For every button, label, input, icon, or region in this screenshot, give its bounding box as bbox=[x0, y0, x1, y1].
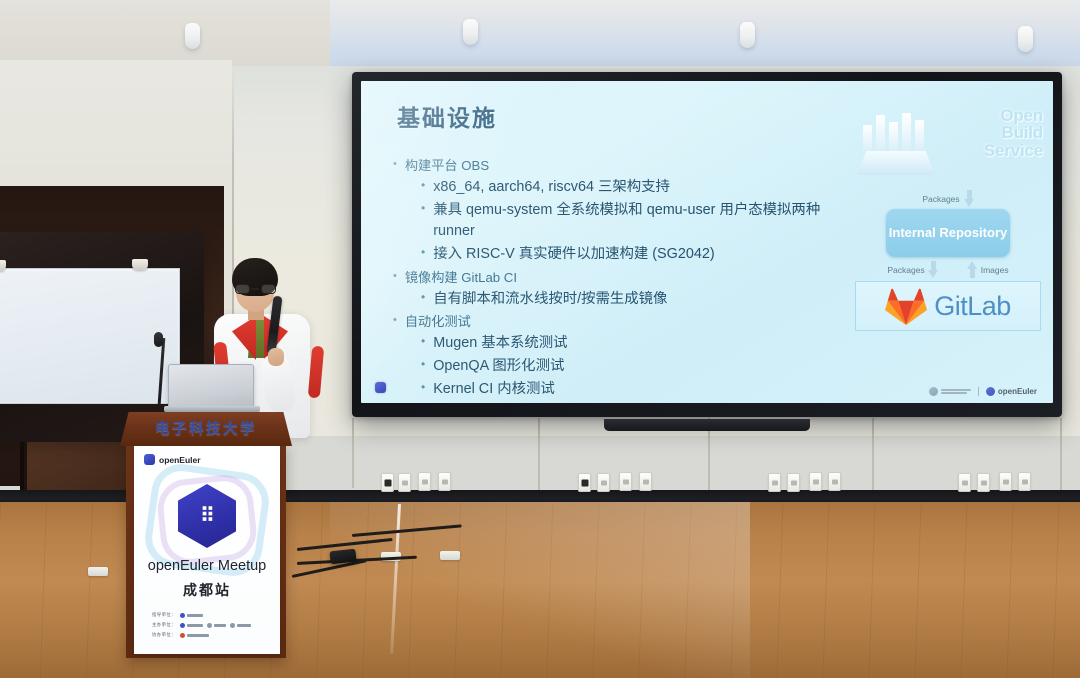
bullet-item: • 接入 RISC-V 真实硬件以加速构建 (SG2042) bbox=[421, 244, 853, 266]
hex-logo-glyph: ⠿ bbox=[200, 503, 214, 528]
bullet-marker: • bbox=[421, 289, 425, 306]
bullet-text: 自有脚本和流水线按时/按需生成镜像 bbox=[433, 289, 667, 311]
bullet-marker: • bbox=[421, 200, 425, 217]
bullet-item: • x86_64, aarch64, riscv64 三架构支持 bbox=[421, 177, 853, 199]
wall-outlet bbox=[398, 473, 411, 492]
bullet-text: Mugen 基本系统测试 bbox=[433, 333, 567, 355]
slide-title: 基础设施 bbox=[397, 99, 497, 133]
sponsor-name-bar bbox=[187, 634, 209, 637]
presenter-hand bbox=[268, 348, 284, 366]
sponsor-label: 指导单位： bbox=[152, 612, 176, 618]
bullet-marker: • bbox=[421, 177, 425, 194]
sponsor-logo bbox=[207, 623, 226, 628]
bullet-item: • Kernel CI 内核测试 bbox=[421, 379, 853, 401]
wall-outlet bbox=[381, 473, 394, 492]
bullet-item: • Mugen 基本系统测试 bbox=[421, 333, 853, 355]
openeuler-mark-icon bbox=[986, 387, 995, 396]
sponsor-row: 指导单位： bbox=[152, 612, 264, 618]
floor-plate bbox=[88, 567, 108, 576]
openeuler-logo-icon bbox=[144, 454, 155, 465]
wall-outlet bbox=[768, 473, 781, 492]
obs-wordmark-line: Open bbox=[939, 107, 1043, 124]
poster-subtitle: 成都站 bbox=[134, 580, 280, 600]
sponsor-logo bbox=[230, 623, 251, 628]
poster-brand-name: openEuler bbox=[159, 455, 201, 465]
gitlab-box: GitLab bbox=[855, 281, 1041, 331]
poster-sponsor-rows: 指导单位： 主办单位： bbox=[152, 612, 264, 642]
slide-footer-logos: openEuler bbox=[929, 387, 1037, 396]
bullet-marker: • bbox=[421, 244, 425, 261]
open-build-service-logo: Open Build Service bbox=[851, 103, 1045, 189]
ceiling-light-icon bbox=[185, 23, 200, 49]
wall-panel-line bbox=[538, 418, 540, 490]
wall-outlet bbox=[958, 473, 971, 492]
bullet-item: • 自有脚本和流水线按时/按需生成镜像 bbox=[421, 289, 853, 311]
arrow-down-icon bbox=[965, 190, 974, 207]
sponsor-logo bbox=[180, 613, 203, 618]
openeuler-footer-name: openEuler bbox=[998, 387, 1037, 396]
slide-page-logo-icon bbox=[375, 382, 386, 393]
gitlab-tanuki-icon bbox=[885, 286, 927, 326]
slide-bullet-list: • 构建平台 OBS • x86_64, aarch64, riscv64 三架… bbox=[393, 154, 853, 402]
wall-outlet bbox=[619, 472, 632, 491]
poster-brand: openEuler bbox=[144, 454, 201, 465]
whiteboard-clip-icon bbox=[132, 259, 148, 270]
bullet-marker: • bbox=[393, 312, 397, 329]
sponsor-label: 主办单位： bbox=[152, 622, 176, 628]
bullet-marker: • bbox=[421, 379, 425, 396]
bullet-item: • 自动化测试 bbox=[393, 312, 853, 331]
wall-outlet bbox=[809, 472, 822, 491]
obs-building-icon bbox=[857, 113, 935, 175]
partner-org-name-lines bbox=[941, 389, 971, 394]
ceiling-light-icon bbox=[740, 22, 755, 48]
flow-packages-images: Packages Images bbox=[851, 261, 1045, 278]
podium-top: 电子科技大学 bbox=[120, 412, 292, 446]
wall-panel-line bbox=[352, 418, 354, 488]
obs-wordmark: Open Build Service bbox=[939, 107, 1043, 159]
sponsor-mark-icon bbox=[180, 633, 185, 638]
sponsor-mark-icon bbox=[230, 623, 235, 628]
arrow-label-right: Images bbox=[981, 265, 1009, 275]
arrow-label-left: Packages bbox=[887, 265, 924, 275]
sponsor-name-bar bbox=[187, 624, 203, 627]
bullet-item: • 兼具 qemu-system 全系统模拟和 qemu-user 用户态模拟两… bbox=[421, 200, 853, 243]
wall-outlet bbox=[597, 473, 610, 492]
bullet-marker: • bbox=[421, 356, 425, 373]
presentation-display: 基础设施 • 构建平台 OBS • x86_64, aarch64, riscv… bbox=[352, 72, 1062, 417]
jacket-stripe-right bbox=[308, 346, 324, 399]
podium-poster: openEuler ⠿ openEuler Meetup 成都站 指导单位： 主… bbox=[134, 446, 280, 654]
bullet-text: 自动化测试 bbox=[405, 312, 471, 331]
sponsor-name-bar bbox=[237, 624, 251, 627]
wall-panel-line bbox=[872, 418, 874, 492]
internal-repository-box: Internal Repository bbox=[886, 209, 1010, 257]
slide: 基础设施 • 构建平台 OBS • x86_64, aarch64, riscv… bbox=[361, 81, 1053, 403]
bullet-text: Kernel CI 内核测试 bbox=[433, 379, 555, 401]
wall-outlet bbox=[578, 473, 591, 492]
partner-org-mark-icon bbox=[929, 387, 938, 396]
bullet-text: OpenQA 图形化测试 bbox=[433, 356, 564, 378]
arrow-up-icon bbox=[968, 261, 977, 278]
bullet-marker: • bbox=[421, 333, 425, 350]
ceiling-light-icon bbox=[1018, 26, 1033, 52]
bullet-text: 接入 RISC-V 真实硬件以加速构建 (SG2042) bbox=[433, 244, 714, 266]
wall-outlet bbox=[787, 473, 800, 492]
whiteboard bbox=[0, 268, 180, 404]
wall-outlet bbox=[438, 472, 451, 491]
university-name: 电子科技大学 bbox=[155, 418, 257, 439]
bullet-item: • 构建平台 OBS bbox=[393, 156, 853, 175]
bullet-marker: • bbox=[393, 268, 397, 285]
bullet-marker: • bbox=[393, 156, 397, 173]
flow-packages-down: Packages bbox=[851, 190, 1045, 207]
display-screen: 基础设施 • 构建平台 OBS • x86_64, aarch64, riscv… bbox=[361, 81, 1053, 403]
glasses-icon bbox=[235, 284, 276, 294]
arrow-label: Packages bbox=[922, 194, 959, 204]
partner-org-logo bbox=[929, 387, 971, 396]
sponsor-label: 协办单位： bbox=[152, 632, 176, 638]
sponsor-logo bbox=[180, 623, 203, 628]
laptop bbox=[168, 364, 254, 408]
power-adapter bbox=[329, 549, 356, 565]
slide-diagram: Open Build Service Packages Internal Rep… bbox=[851, 103, 1045, 331]
sponsor-logo bbox=[180, 633, 209, 638]
sponsor-mark-icon bbox=[180, 613, 185, 618]
footer-divider bbox=[978, 387, 979, 396]
bullet-text: 镜像构建 GitLab CI bbox=[405, 268, 517, 287]
wall-outlet bbox=[999, 472, 1012, 491]
wall-outlet bbox=[977, 473, 990, 492]
bullet-text: x86_64, aarch64, riscv64 三架构支持 bbox=[433, 177, 670, 199]
sponsor-row: 主办单位： bbox=[152, 622, 264, 628]
display-stand bbox=[604, 419, 810, 431]
obs-wordmark-line: Service bbox=[939, 142, 1043, 159]
sponsor-name-bar bbox=[187, 614, 203, 617]
wall-panel-line bbox=[1060, 418, 1062, 494]
arrow-down-icon bbox=[929, 261, 938, 278]
sponsor-mark-icon bbox=[207, 623, 212, 628]
gooseneck-microphone-icon bbox=[154, 332, 163, 347]
sponsor-name-bar bbox=[214, 624, 226, 627]
sponsor-mark-icon bbox=[180, 623, 185, 628]
bullet-item: • 镜像构建 GitLab CI bbox=[393, 268, 853, 287]
poster-title: openEuler Meetup bbox=[134, 558, 280, 574]
bullet-text: 构建平台 OBS bbox=[405, 156, 489, 175]
wall-outlet bbox=[639, 472, 652, 491]
wall-outlet bbox=[1018, 472, 1031, 491]
sponsor-row: 协办单位： bbox=[152, 632, 264, 638]
ceiling-light-icon bbox=[463, 19, 478, 45]
obs-wordmark-line: Build bbox=[939, 124, 1043, 141]
floor-plate bbox=[440, 551, 460, 560]
photo-scene: 基础设施 • 构建平台 OBS • x86_64, aarch64, riscv… bbox=[0, 0, 1080, 678]
wall-outlet bbox=[418, 472, 431, 491]
wall-outlet bbox=[828, 472, 841, 491]
bullet-item: • OpenQA 图形化测试 bbox=[421, 356, 853, 378]
openeuler-footer-logo: openEuler bbox=[986, 387, 1037, 396]
gitlab-wordmark: GitLab bbox=[934, 291, 1011, 322]
bullet-text: 兼具 qemu-system 全系统模拟和 qemu-user 用户态模拟两种 … bbox=[433, 200, 853, 243]
